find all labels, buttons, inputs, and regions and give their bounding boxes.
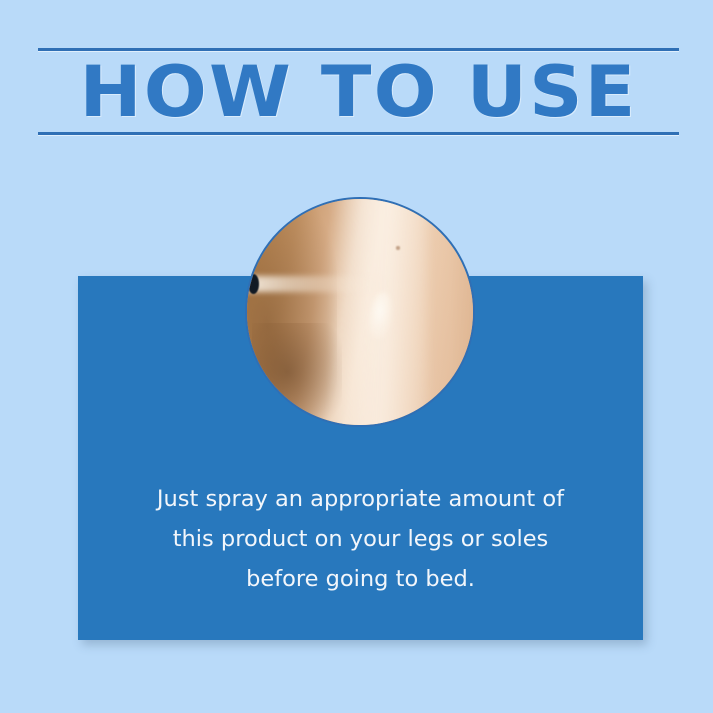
spray-streak: [247, 276, 392, 292]
skin-mark: [396, 246, 400, 249]
header: HOW TO USE: [38, 48, 679, 136]
product-demo-photo: [245, 197, 475, 427]
title-rule-bottom: [38, 132, 679, 135]
how-to-use-poster: HOW TO USE Just spray an appropriate amo…: [0, 0, 713, 713]
instruction-text: Just spray an appropriate amount of this…: [136, 479, 585, 599]
photo-lower-shadow: [252, 323, 342, 427]
page-title: HOW TO USE: [19, 54, 698, 130]
